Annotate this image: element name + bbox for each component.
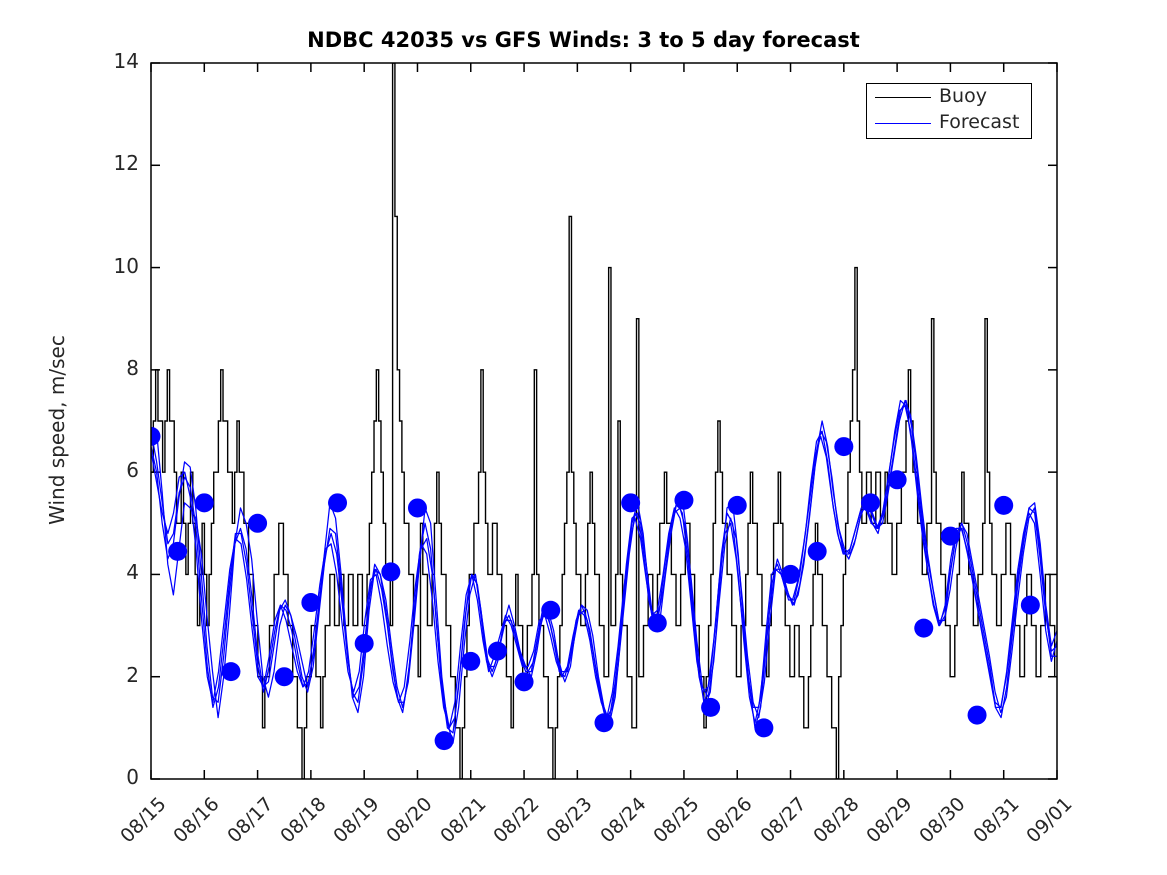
- legend-label-buoy: Buoy: [939, 85, 987, 107]
- figure-container: NDBC 42035 vs GFS Winds: 3 to 5 day fore…: [0, 0, 1167, 875]
- y-tick-label: 12: [79, 151, 139, 175]
- y-tick-label: 6: [79, 458, 139, 482]
- legend-item-forecast: Forecast: [867, 110, 1033, 138]
- y-tick-label: 4: [79, 560, 139, 584]
- legend: Buoy Forecast: [866, 83, 1032, 139]
- legend-item-buoy: Buoy: [867, 84, 1033, 112]
- y-tick-label: 0: [79, 765, 139, 789]
- legend-swatch-buoy: [875, 97, 931, 98]
- legend-label-forecast: Forecast: [939, 111, 1019, 133]
- y-tick-label: 14: [79, 49, 139, 73]
- forecast-series: [151, 401, 1057, 744]
- y-tick-label: 10: [79, 254, 139, 278]
- y-tick-label: 2: [79, 663, 139, 687]
- legend-swatch-forecast: [875, 123, 931, 124]
- y-tick-label: 8: [79, 356, 139, 380]
